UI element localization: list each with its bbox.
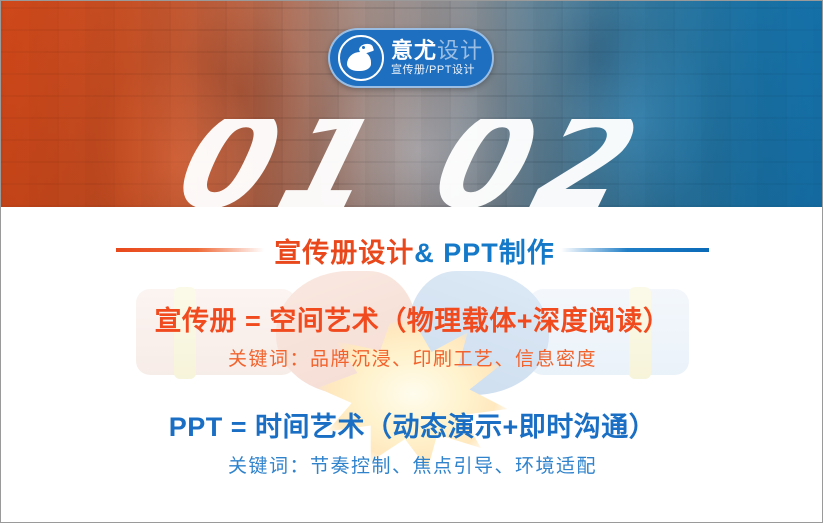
- logo-subtitle: 宣传册/PPT设计: [391, 63, 483, 77]
- ppt-keywords: 关键词：节奏控制、焦点引导、环境适配: [1, 451, 823, 478]
- bird-ink-drop-icon: [338, 35, 384, 81]
- heading-rule-left: [116, 248, 264, 252]
- page-title-orange: 宣传册设计: [274, 238, 414, 268]
- section-heading: 宣传册设计& PPT制作: [1, 229, 823, 271]
- logo-text-block: 意尤设计 宣传册/PPT设计: [391, 39, 483, 77]
- logo-name-light: 设计: [437, 38, 483, 63]
- page-title-blue: & PPT制作: [414, 238, 555, 268]
- brochure-statement: 宣传册 = 空间艺术（物理载体+深度阅读）: [1, 299, 823, 338]
- heading-rule-right: [561, 248, 709, 252]
- logo-name: 意尤设计: [391, 39, 483, 63]
- ink-drop-shape: [347, 52, 371, 71]
- logo-name-bold: 意尤: [391, 38, 437, 63]
- ppt-statement: PPT = 时间艺术（动态演示+即时沟通）: [1, 405, 823, 444]
- bird-head-shape: [358, 42, 374, 55]
- hero-banner: 01 02 意尤设计 宣传册/PPT设计: [1, 1, 823, 207]
- impact-starburst: [318, 319, 508, 469]
- watermark-text: 01 02: [165, 119, 659, 207]
- brand-logo[interactable]: 意尤设计 宣传册/PPT设计: [328, 28, 494, 88]
- watermark-numbers: 01 02: [1, 119, 823, 207]
- bird-eye-dot: [362, 46, 365, 49]
- page-title: 宣传册设计& PPT制作: [274, 231, 555, 270]
- slide-canvas: 01 02 意尤设计 宣传册/PPT设计: [0, 0, 823, 523]
- starburst-shape: [318, 319, 508, 469]
- brochure-keywords: 关键词：品牌沉浸、印刷工艺、信息密度: [1, 344, 823, 371]
